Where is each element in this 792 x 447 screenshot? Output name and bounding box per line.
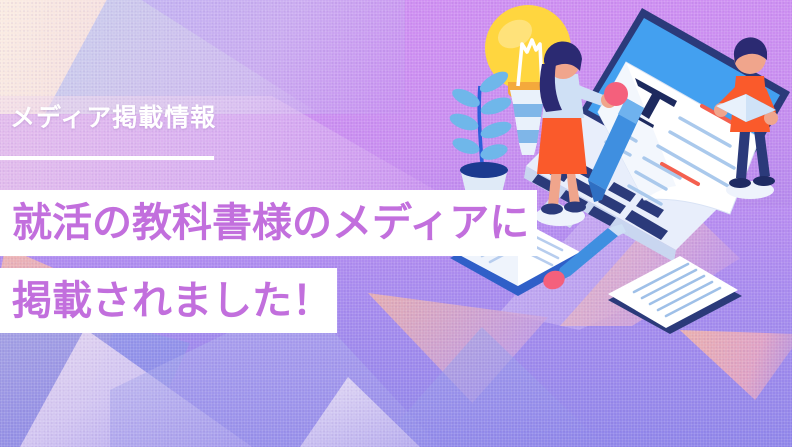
headline-line-2: 掲載されました！ (12, 281, 332, 321)
headline-band-1: 就活の教科書様のメディアに (0, 190, 537, 256)
headline-band-2: 掲載されました！ (0, 268, 337, 333)
kicker-underline (0, 156, 214, 160)
headline-line-1: 就活の教科書様のメディアに (12, 203, 529, 243)
media-banner: メディア掲載情報 就活の教科書様のメディアに 掲載されました！ (0, 0, 792, 447)
kicker-label: メディア掲載情報 (10, 105, 216, 130)
paper-sheet-icon (608, 256, 742, 334)
